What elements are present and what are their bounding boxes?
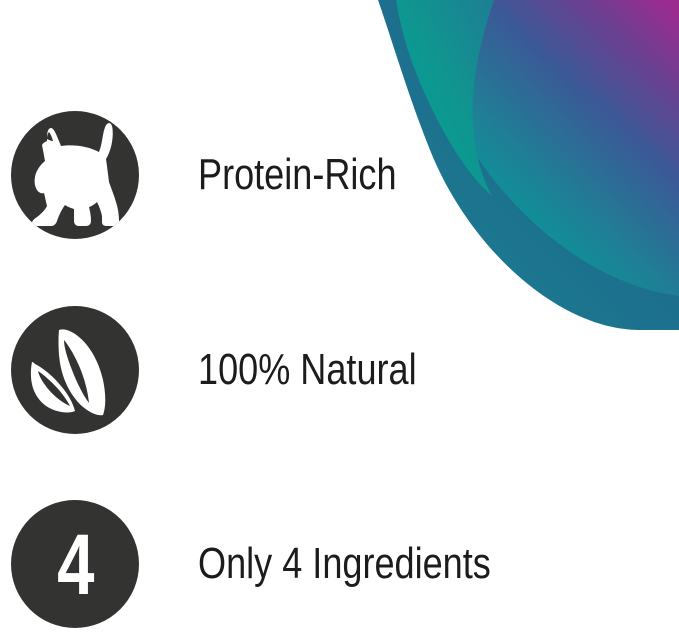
feature-label: 100% Natural — [198, 348, 417, 392]
cat-icon-badge — [11, 111, 139, 239]
number-four-icon-badge: 4 — [11, 500, 139, 628]
feature-label: Only 4 Ingredients — [198, 542, 491, 586]
feature-row: 4 Only 4 Ingredients — [0, 500, 679, 628]
number-four-icon: 4 — [57, 522, 94, 608]
feature-label: Protein-Rich — [198, 153, 397, 197]
cat-icon — [11, 111, 139, 239]
leaf-icon — [11, 306, 139, 434]
feature-row: Protein-Rich — [0, 111, 679, 239]
feature-row: 100% Natural — [0, 306, 679, 434]
leaf-icon-badge — [11, 306, 139, 434]
product-feature-graphic: Protein-Rich 100% Natural 4 Only 4 Ingre… — [0, 0, 679, 639]
